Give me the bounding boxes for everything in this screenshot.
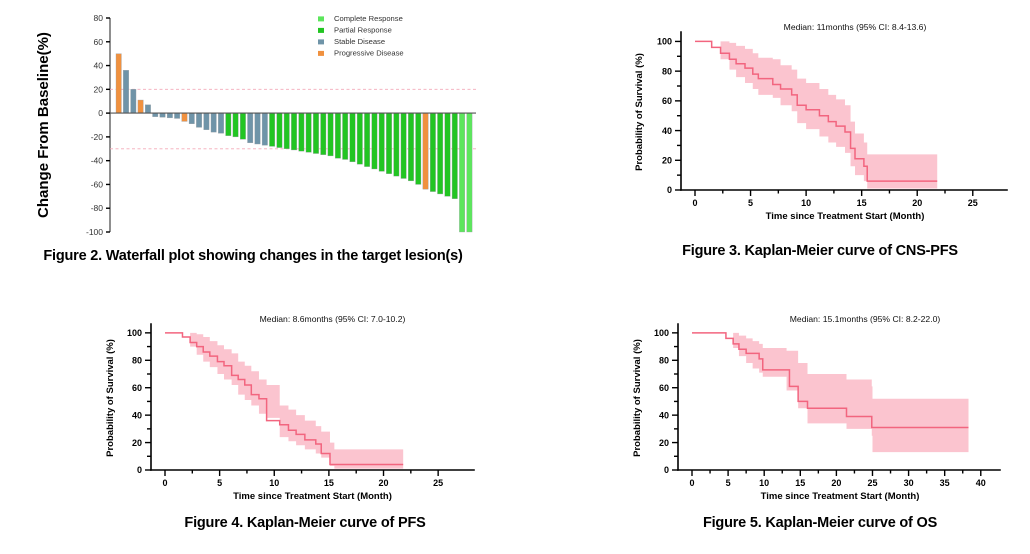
waterfall-bar bbox=[452, 113, 457, 199]
waterfall-bar bbox=[467, 113, 472, 232]
km-y-tick-label: 60 bbox=[132, 383, 142, 393]
waterfall-y-tick-label: -60 bbox=[91, 179, 104, 189]
legend-swatch bbox=[318, 28, 324, 33]
waterfall-bar bbox=[408, 113, 413, 181]
waterfall-bar bbox=[306, 113, 311, 152]
km-y-tick-label: 0 bbox=[667, 185, 672, 195]
km-y-tick-label: 40 bbox=[662, 126, 672, 136]
km-x-tick-label: 25 bbox=[433, 478, 443, 488]
figure-2-panel: 806040200-20-40-60-80-100Change From Bas… bbox=[18, 4, 488, 244]
km-y-tick-label: 20 bbox=[132, 438, 142, 448]
km-x-tick-label: 0 bbox=[689, 478, 694, 488]
km-x-tick-label: 5 bbox=[726, 478, 731, 488]
median-annotation: Median: 15.1months (95% CI: 8.2-22.0) bbox=[790, 314, 941, 324]
km-x-axis-label: Time since Treatment Start (Month) bbox=[233, 491, 392, 502]
km-x-tick-label: 40 bbox=[976, 478, 986, 488]
waterfall-y-tick-label: 0 bbox=[98, 108, 103, 118]
km-x-tick-label: 15 bbox=[795, 478, 805, 488]
median-annotation: Median: 11months (95% CI: 8.4-13.6) bbox=[784, 22, 927, 32]
waterfall-bar bbox=[211, 113, 216, 132]
figure-4-panel: Median: 8.6months (95% CI: 7.0-10.2)0204… bbox=[105, 298, 505, 513]
km-x-tick-label: 25 bbox=[968, 198, 978, 208]
km-y-tick-label: 20 bbox=[659, 438, 669, 448]
km-y-tick-label: 80 bbox=[662, 66, 672, 76]
waterfall-y-tick-label: -100 bbox=[86, 227, 103, 237]
waterfall-bars bbox=[116, 54, 472, 232]
km-x-tick-label: 5 bbox=[217, 478, 222, 488]
waterfall-bar bbox=[379, 113, 384, 171]
waterfall-bar bbox=[240, 113, 245, 139]
km-x-tick-label: 20 bbox=[379, 478, 389, 488]
waterfall-bar bbox=[218, 113, 223, 133]
waterfall-bar bbox=[394, 113, 399, 176]
km-x-tick-label: 10 bbox=[269, 478, 279, 488]
waterfall-bar bbox=[131, 89, 136, 113]
waterfall-bar bbox=[430, 113, 435, 191]
waterfall-y-tick-label: -40 bbox=[91, 156, 104, 166]
legend-label: Complete Response bbox=[334, 14, 403, 23]
km-x-axis-label: Time since Treatment Start (Month) bbox=[766, 211, 925, 222]
waterfall-chart: 806040200-20-40-60-80-100Change From Bas… bbox=[18, 4, 488, 244]
waterfall-bar bbox=[445, 113, 450, 196]
legend-swatch bbox=[318, 39, 324, 44]
km-y-tick-label: 80 bbox=[132, 355, 142, 365]
waterfall-y-tick-label: -80 bbox=[91, 203, 104, 213]
waterfall-bar bbox=[138, 100, 143, 113]
waterfall-y-tick-label: 80 bbox=[94, 13, 104, 23]
legend-label: Progressive Disease bbox=[334, 49, 404, 58]
waterfall-bar bbox=[364, 113, 369, 167]
waterfall-bar bbox=[401, 113, 406, 178]
km-confidence-band bbox=[725, 333, 968, 452]
legend-swatch bbox=[318, 16, 324, 21]
waterfall-bar bbox=[284, 113, 289, 149]
waterfall-bar bbox=[233, 113, 238, 137]
km-x-tick-label: 10 bbox=[801, 198, 811, 208]
median-annotation: Median: 8.6months (95% CI: 7.0-10.2) bbox=[260, 314, 406, 324]
waterfall-bar bbox=[291, 113, 296, 150]
waterfall-bar bbox=[372, 113, 377, 169]
km-y-tick-label: 20 bbox=[662, 155, 672, 165]
waterfall-bar bbox=[335, 113, 340, 158]
waterfall-bar bbox=[269, 113, 274, 146]
waterfall-bar bbox=[160, 113, 165, 117]
km-chart-pfs: Median: 8.6months (95% CI: 7.0-10.2)0204… bbox=[105, 298, 505, 513]
km-y-tick-label: 0 bbox=[664, 465, 669, 475]
km-y-tick-label: 40 bbox=[659, 410, 669, 420]
waterfall-bar bbox=[459, 113, 464, 232]
waterfall-bar bbox=[116, 54, 121, 113]
waterfall-y-tick-label: 60 bbox=[94, 37, 104, 47]
waterfall-bar bbox=[262, 113, 267, 145]
waterfall-bar bbox=[350, 113, 355, 162]
waterfall-bar bbox=[423, 113, 428, 189]
km-x-tick-label: 15 bbox=[857, 198, 867, 208]
waterfall-y-axis-label: Change From Baseline(%) bbox=[35, 32, 52, 218]
km-y-tick-label: 100 bbox=[654, 328, 669, 338]
km-y-tick-label: 100 bbox=[127, 328, 142, 338]
waterfall-bar bbox=[386, 113, 391, 174]
waterfall-bar bbox=[189, 113, 194, 124]
figure-4-caption: Figure 4. Kaplan-Meier curve of PFS bbox=[105, 515, 505, 531]
waterfall-bar bbox=[145, 105, 150, 113]
waterfall-bar bbox=[313, 113, 318, 153]
km-x-tick-label: 20 bbox=[912, 198, 922, 208]
waterfall-legend: Complete ResponsePartial ResponseStable … bbox=[318, 14, 404, 58]
waterfall-bar bbox=[196, 113, 201, 127]
waterfall-bar bbox=[182, 113, 187, 121]
legend-swatch bbox=[318, 51, 324, 56]
legend-label: Partial Response bbox=[334, 26, 392, 35]
km-x-tick-label: 35 bbox=[940, 478, 950, 488]
waterfall-bar bbox=[255, 113, 260, 144]
waterfall-bar bbox=[321, 113, 326, 155]
km-y-axis-label: Probability of Survival (%) bbox=[632, 339, 643, 457]
figure-5-panel: Median: 15.1months (95% CI: 8.2-22.0)020… bbox=[620, 298, 1020, 513]
waterfall-bar bbox=[204, 113, 209, 130]
km-x-tick-label: 25 bbox=[867, 478, 877, 488]
km-confidence-band bbox=[181, 333, 403, 469]
km-chart-os: Median: 15.1months (95% CI: 8.2-22.0)020… bbox=[620, 298, 1020, 513]
waterfall-y-tick-label: 40 bbox=[94, 61, 104, 71]
km-x-tick-label: 0 bbox=[692, 198, 697, 208]
waterfall-bar bbox=[167, 113, 172, 118]
km-x-tick-label: 30 bbox=[904, 478, 914, 488]
figure-3-panel: Median: 11months (95% CI: 8.4-13.6)02040… bbox=[620, 8, 1020, 238]
km-y-tick-label: 40 bbox=[132, 410, 142, 420]
figure-3-caption: Figure 3. Kaplan-Meier curve of CNS-PFS bbox=[620, 243, 1020, 259]
waterfall-bar bbox=[357, 113, 362, 164]
waterfall-bar bbox=[174, 113, 179, 118]
km-x-tick-label: 5 bbox=[748, 198, 753, 208]
waterfall-bar bbox=[437, 113, 442, 194]
waterfall-y-tick-label: 20 bbox=[94, 84, 104, 94]
waterfall-y-tick-label: -20 bbox=[91, 132, 104, 142]
km-y-axis-label: Probability of Survival (%) bbox=[634, 53, 645, 171]
km-y-axis-label: Probability of Survival (%) bbox=[105, 339, 116, 457]
waterfall-bar bbox=[123, 70, 128, 113]
km-x-tick-label: 10 bbox=[759, 478, 769, 488]
km-y-tick-label: 60 bbox=[662, 96, 672, 106]
figure-5-caption: Figure 5. Kaplan-Meier curve of OS bbox=[620, 515, 1020, 531]
km-x-axis-label: Time since Treatment Start (Month) bbox=[761, 491, 920, 502]
km-x-tick-label: 0 bbox=[162, 478, 167, 488]
waterfall-bar bbox=[277, 113, 282, 147]
waterfall-bar bbox=[342, 113, 347, 159]
km-x-tick-label: 20 bbox=[831, 478, 841, 488]
km-y-tick-label: 0 bbox=[137, 465, 142, 475]
km-y-tick-label: 60 bbox=[659, 383, 669, 393]
legend-label: Stable Disease bbox=[334, 37, 385, 46]
figure-2-caption: Figure 2. Waterfall plot showing changes… bbox=[8, 248, 498, 264]
km-y-tick-label: 100 bbox=[657, 37, 672, 47]
km-chart-cns-pfs: Median: 11months (95% CI: 8.4-13.6)02040… bbox=[620, 8, 1020, 238]
waterfall-bar bbox=[226, 113, 231, 136]
km-x-tick-label: 15 bbox=[324, 478, 334, 488]
km-y-tick-label: 80 bbox=[659, 355, 669, 365]
waterfall-bar bbox=[299, 113, 304, 151]
waterfall-bar bbox=[328, 113, 333, 156]
waterfall-bar bbox=[416, 113, 421, 184]
waterfall-bar bbox=[248, 113, 253, 143]
